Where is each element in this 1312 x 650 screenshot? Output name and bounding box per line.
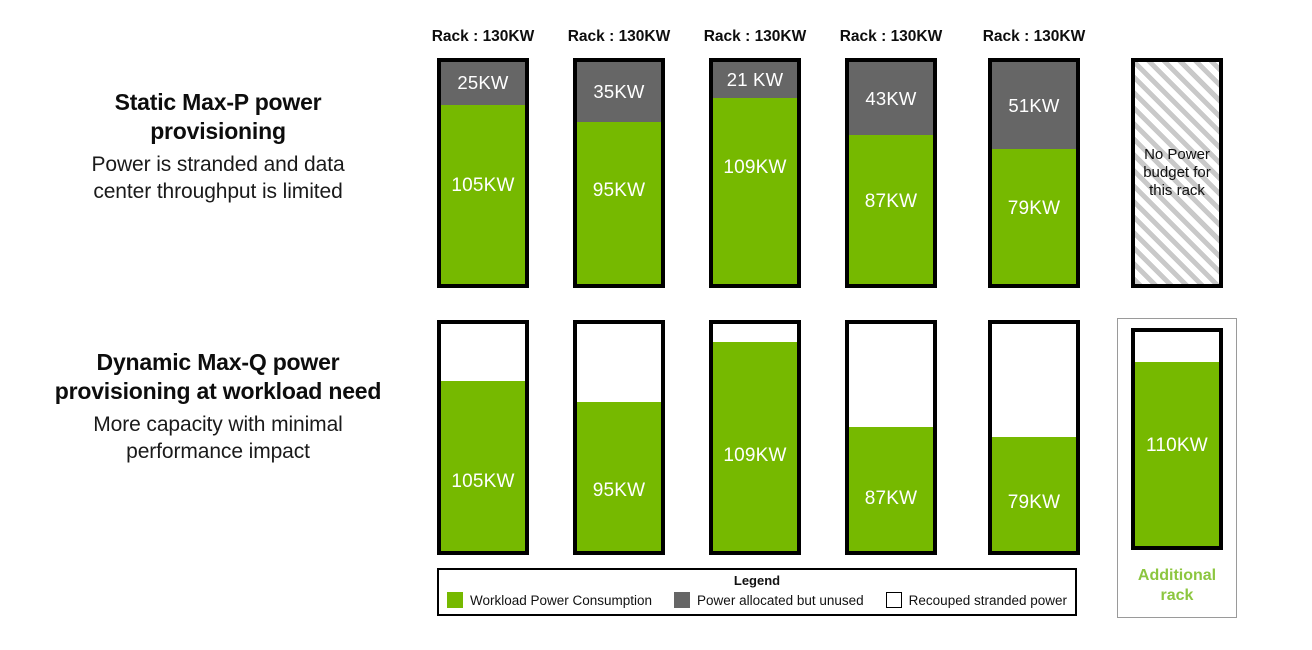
dynamic-description: Dynamic Max-Q power provisioning at work… xyxy=(18,348,418,465)
dynamic-rack-6-additional[interactable]: 110KW xyxy=(1131,328,1223,550)
dynamic-subtitle: More capacity with minimal performance i… xyxy=(18,411,418,466)
static-rack-2-unused-label: 35KW xyxy=(593,81,644,103)
legend-item-recouped: Recouped stranded power xyxy=(886,592,1067,608)
rack-header-4: Rack : 130KW xyxy=(826,28,956,46)
legend-label-recouped: Recouped stranded power xyxy=(909,593,1067,608)
legend-swatch-white-icon xyxy=(886,592,902,608)
static-rack-5-workload-label: 79KW xyxy=(1008,198,1061,220)
rack-header-2: Rack : 130KW xyxy=(554,28,684,46)
dynamic-rack-1-workload-label: 105KW xyxy=(451,471,514,493)
rack-header-3: Rack : 130KW xyxy=(690,28,820,46)
legend: Legend Workload Power Consumption Power … xyxy=(437,568,1077,616)
static-rack-6-label: No Power budget for this rack xyxy=(1143,146,1211,201)
static-rack-3-workload: 109KW xyxy=(713,98,797,284)
static-rack-5-workload: 79KW xyxy=(992,149,1076,284)
dynamic-rack-6-workload: 110KW xyxy=(1135,362,1219,546)
static-rack-1-workload-label: 105KW xyxy=(451,175,514,197)
static-rack-4-workload-label: 87KW xyxy=(865,191,918,213)
static-rack-2-unused: 35KW xyxy=(577,62,661,122)
dynamic-rack-6-recouped xyxy=(1135,332,1219,362)
static-rack-2-workload: 95KW xyxy=(577,122,661,284)
static-rack-4-workload: 87KW xyxy=(849,135,933,284)
dynamic-rack-1[interactable]: 105KW xyxy=(437,320,529,555)
legend-items: Workload Power Consumption Power allocat… xyxy=(439,592,1075,608)
dynamic-rack-4-recouped xyxy=(849,324,933,427)
dynamic-rack-5-workload-label: 79KW xyxy=(1008,492,1061,514)
static-rack-4[interactable]: 43KW 87KW xyxy=(845,58,937,288)
dynamic-rack-1-workload: 105KW xyxy=(441,381,525,551)
static-description: Static Max-P power provisioning Power is… xyxy=(18,88,418,205)
static-rack-2-workload-label: 95KW xyxy=(593,180,646,202)
dynamic-rack-5-workload: 79KW xyxy=(992,437,1076,551)
dynamic-rack-4-workload: 87KW xyxy=(849,427,933,551)
dynamic-rack-3-workload: 109KW xyxy=(713,342,797,551)
static-rack-1-unused-label: 25KW xyxy=(457,72,508,94)
dynamic-rack-2-recouped xyxy=(577,324,661,402)
dynamic-rack-4-workload-label: 87KW xyxy=(865,488,918,510)
static-rack-6-no-power: No Power budget for this rack xyxy=(1131,58,1223,288)
legend-label-workload: Workload Power Consumption xyxy=(470,593,652,608)
static-rack-3[interactable]: 21 KW 109KW xyxy=(709,58,801,288)
static-rack-5-unused: 51KW xyxy=(992,62,1076,149)
dynamic-rack-3-recouped xyxy=(713,324,797,342)
dynamic-rack-1-recouped xyxy=(441,324,525,381)
dynamic-rack-5-recouped xyxy=(992,324,1076,437)
static-rack-1-workload: 105KW xyxy=(441,105,525,284)
legend-title: Legend xyxy=(439,573,1075,588)
static-title: Static Max-P power provisioning xyxy=(18,88,418,146)
legend-swatch-green-icon xyxy=(447,592,463,608)
dynamic-rack-2[interactable]: 95KW xyxy=(573,320,665,555)
dynamic-rack-5[interactable]: 79KW xyxy=(988,320,1080,555)
dynamic-rack-3-workload-label: 109KW xyxy=(723,445,786,467)
dynamic-rack-2-workload-label: 95KW xyxy=(593,480,646,502)
rack-header-1: Rack : 130KW xyxy=(418,28,548,46)
static-rack-1-unused: 25KW xyxy=(441,62,525,105)
legend-item-unused: Power allocated but unused xyxy=(674,592,864,608)
static-rack-3-workload-label: 109KW xyxy=(723,157,786,179)
legend-swatch-gray-icon xyxy=(674,592,690,608)
dynamic-rack-2-workload: 95KW xyxy=(577,402,661,551)
static-rack-1[interactable]: 25KW 105KW xyxy=(437,58,529,288)
static-rack-3-unused: 21 KW xyxy=(713,62,797,98)
static-subtitle: Power is stranded and data center throug… xyxy=(18,151,418,206)
dynamic-title: Dynamic Max-Q power provisioning at work… xyxy=(18,348,418,406)
static-rack-3-unused-label: 21 KW xyxy=(727,69,784,91)
static-rack-2[interactable]: 35KW 95KW xyxy=(573,58,665,288)
static-rack-5-unused-label: 51KW xyxy=(1008,95,1059,117)
static-rack-4-unused: 43KW xyxy=(849,62,933,135)
legend-item-workload: Workload Power Consumption xyxy=(447,592,652,608)
legend-label-unused: Power allocated but unused xyxy=(697,593,864,608)
static-rack-5[interactable]: 51KW 79KW xyxy=(988,58,1080,288)
additional-rack-caption: Additional rack xyxy=(1117,566,1237,606)
dynamic-rack-4[interactable]: 87KW xyxy=(845,320,937,555)
dynamic-rack-6-workload-label: 110KW xyxy=(1146,435,1208,457)
static-rack-4-unused-label: 43KW xyxy=(865,88,916,110)
dynamic-rack-3[interactable]: 109KW xyxy=(709,320,801,555)
rack-header-5: Rack : 130KW xyxy=(969,28,1099,46)
